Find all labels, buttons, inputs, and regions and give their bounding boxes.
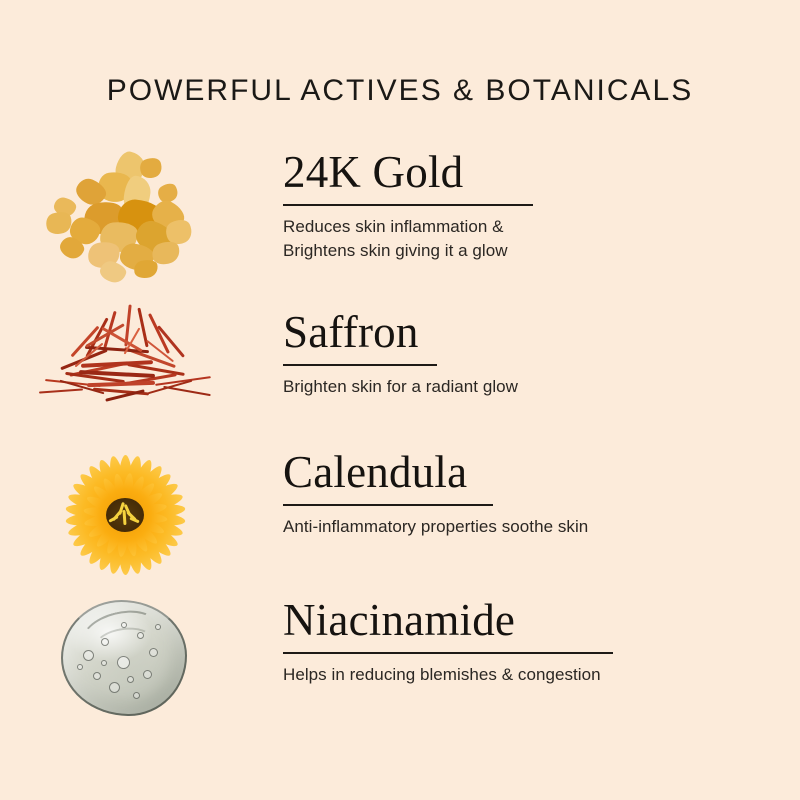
ingredient-text-saffron: Saffron Brighten skin for a radiant glow xyxy=(283,310,518,399)
page-title: POWERFUL ACTIVES & BOTANICALS xyxy=(0,74,800,108)
niacinamide-gel-drop-image xyxy=(0,598,250,718)
calendula-flower-image xyxy=(0,450,250,580)
ingredient-divider xyxy=(283,204,533,206)
ingredient-text-gold: 24K Gold Reduces skin inflammation & Bri… xyxy=(283,150,533,263)
ingredient-description: Reduces skin inflammation & Brightens sk… xyxy=(283,215,533,263)
ingredient-row-saffron: Saffron Brighten skin for a radiant glow xyxy=(0,310,800,420)
ingredient-divider xyxy=(283,504,493,506)
ingredient-name: Saffron xyxy=(283,310,419,355)
flower-graphic xyxy=(60,450,190,580)
ingredient-highlights-panel: POWERFUL ACTIVES & BOTANICALS xyxy=(0,0,800,800)
ingredient-name: Niacinamide xyxy=(283,598,515,643)
ingredient-name: 24K Gold xyxy=(283,150,463,195)
ingredient-description: Anti-inflammatory properties soothe skin xyxy=(283,515,588,539)
ingredient-description: Helps in reducing blemishes & congestion xyxy=(283,663,613,687)
gold-leaf-flakes-image xyxy=(0,150,250,290)
ingredient-divider xyxy=(283,364,437,366)
ingredient-row-calendula: Calendula Anti-inflammatory properties s… xyxy=(0,450,800,580)
saffron-threads-image xyxy=(0,310,250,420)
ingredient-text-calendula: Calendula Anti-inflammatory properties s… xyxy=(283,450,588,539)
flower-center xyxy=(106,498,144,532)
ingredient-name: Calendula xyxy=(283,450,467,495)
ingredient-row-gold: 24K Gold Reduces skin inflammation & Bri… xyxy=(0,150,800,290)
ingredient-description: Brighten skin for a radiant glow xyxy=(283,375,518,399)
ingredient-divider xyxy=(283,652,613,654)
ingredient-text-niacinamide: Niacinamide Helps in reducing blemishes … xyxy=(283,598,613,687)
ingredient-row-niacinamide: Niacinamide Helps in reducing blemishes … xyxy=(0,598,800,718)
